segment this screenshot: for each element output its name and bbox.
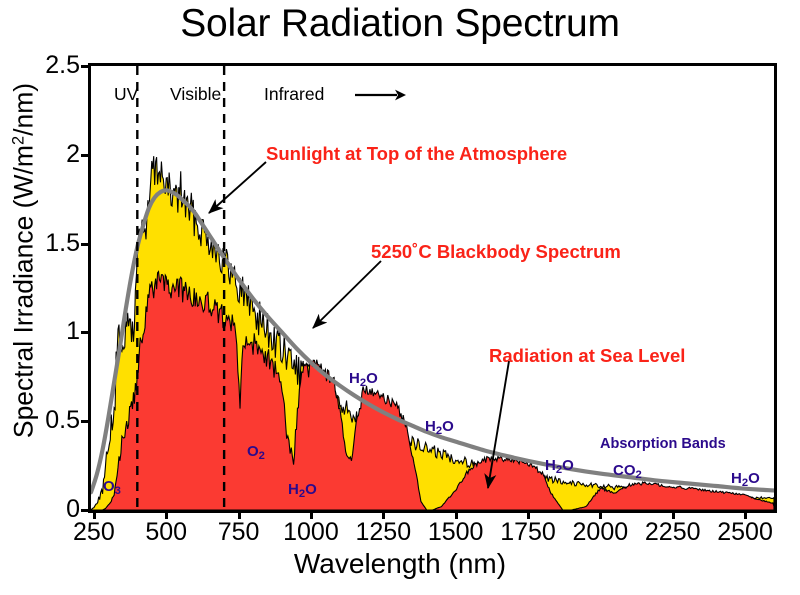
absorption-label-h2o-2: H2O xyxy=(349,370,378,389)
y-axis-tick-label: 2 xyxy=(30,142,80,167)
y-axis-label-superscript: 2 xyxy=(9,136,27,145)
absorption-label-h2o-3: H2O xyxy=(425,418,454,437)
y-axis-tick-mark xyxy=(81,420,90,423)
molecule-symbol: O xyxy=(247,443,259,460)
y-axis-tick-mark xyxy=(81,65,90,68)
absorption-label-h2o-4: H2O xyxy=(545,457,574,476)
x-axis-tick-mark xyxy=(744,510,747,519)
y-axis-tick-mark xyxy=(81,331,90,334)
annotation-sea-level: Radiation at Sea Level xyxy=(489,345,685,367)
molecule-symbol: H xyxy=(731,470,742,487)
x-axis-tick-mark xyxy=(310,510,313,519)
y-axis-tick-label: 1 xyxy=(30,319,80,344)
page-title: Solar Radiation Spectrum xyxy=(0,2,800,46)
molecule-symbol: H xyxy=(425,418,436,435)
annotation-blackbody: 5250˚C Blackbody Spectrum xyxy=(371,241,621,263)
molecule-subscript: 3 xyxy=(115,485,121,497)
molecule-symbol: H xyxy=(545,457,556,474)
y-axis-tick-mark xyxy=(81,243,90,246)
band-label-uv: UV xyxy=(114,84,138,105)
x-axis-tick-mark xyxy=(599,510,602,519)
absorption-label-o2: O2 xyxy=(247,443,265,462)
band-label-visible: Visible xyxy=(170,84,221,105)
molecule-symbol: H xyxy=(288,481,299,498)
y-axis-label: Spectral Irradiance (W/m2/nm) xyxy=(9,1,40,521)
molecule-symbol-tail: O xyxy=(748,470,760,487)
x-axis-tick-mark xyxy=(382,510,385,519)
molecule-symbol: H xyxy=(349,370,360,387)
molecule-subscript: 2 xyxy=(259,450,265,462)
y-axis-label-pre: Spectral Irradiance (W/m xyxy=(9,145,39,438)
molecule-symbol-tail: O xyxy=(305,481,317,498)
molecule-subscript: 2 xyxy=(636,469,642,481)
band-label-infrared: Infrared xyxy=(264,84,324,105)
molecule-symbol-tail: O xyxy=(366,370,378,387)
y-axis-tick-mark xyxy=(81,154,90,157)
x-axis-label: Wavelength (nm) xyxy=(0,548,800,580)
absorption-label-h2o-5: H2O xyxy=(731,470,760,489)
y-axis-tick-mark xyxy=(81,509,90,512)
molecule-symbol-tail: O xyxy=(562,457,574,474)
x-axis-tick-mark xyxy=(455,510,458,519)
x-axis-tick-mark xyxy=(238,510,241,519)
solar-radiation-spectrum-chart: Solar Radiation Spectrum Spectral Irradi… xyxy=(0,0,800,595)
molecule-symbol: CO xyxy=(613,462,636,479)
annotation-absorption-bands: Absorption Bands xyxy=(600,436,726,452)
absorption-label-o3: O3 xyxy=(103,478,121,497)
arrow-right-icon xyxy=(355,86,407,104)
annotation-top-of-atmosphere: Sunlight at Top of the Atmosphere xyxy=(266,143,567,165)
x-axis-tick-label: 2500 xyxy=(700,520,790,545)
x-axis-tick-mark xyxy=(93,510,96,519)
y-axis-tick-label: 2.5 xyxy=(30,53,80,78)
y-axis-label-post: /nm) xyxy=(9,83,39,136)
absorption-label-h2o-1: H2O xyxy=(288,481,317,500)
molecule-symbol: O xyxy=(103,478,115,495)
y-axis-tick-label: 0.5 xyxy=(30,408,80,433)
y-axis-tick-label: 1.5 xyxy=(30,231,80,256)
x-axis-tick-mark xyxy=(527,510,530,519)
x-axis-tick-mark xyxy=(165,510,168,519)
molecule-symbol-tail: O xyxy=(442,418,454,435)
x-axis-tick-mark xyxy=(672,510,675,519)
absorption-label-co2: CO2 xyxy=(613,462,642,481)
